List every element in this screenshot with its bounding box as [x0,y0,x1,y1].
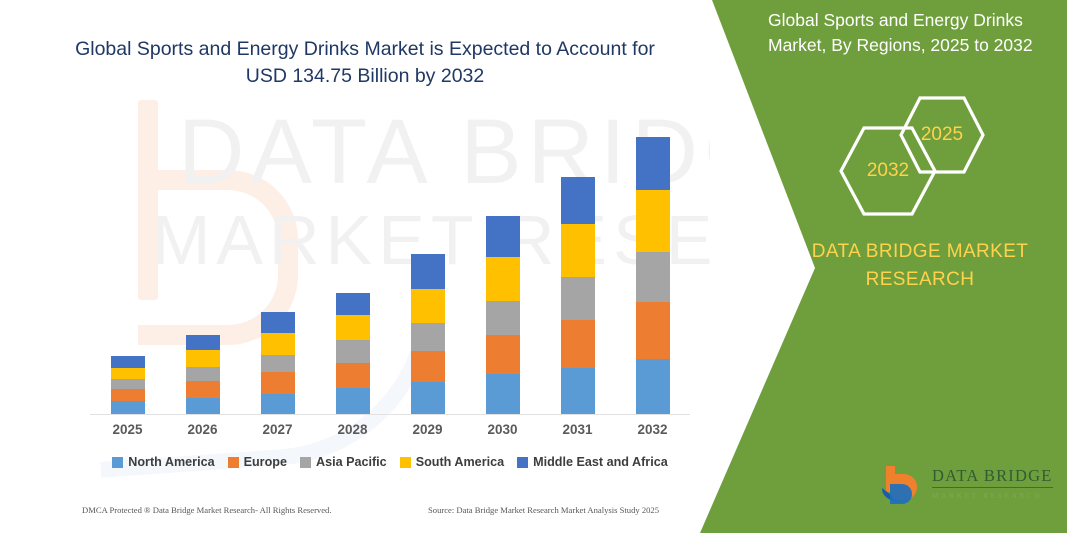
bar-segment [411,254,445,289]
bar-segment [336,388,370,414]
legend-item[interactable]: Asia Pacific [300,455,387,469]
bar-segment [486,257,520,301]
bar-segment [636,137,670,190]
bar-2031 [561,177,595,414]
bar-2028 [336,293,370,414]
bar-segment [336,293,370,315]
bar-segment [186,398,220,414]
bar-segment [186,367,220,381]
bar-segment [561,320,595,368]
bar-segment [261,372,295,394]
x-axis-label: 2028 [323,422,383,437]
legend-label: Asia Pacific [316,455,387,469]
footer-copyright: DMCA Protected ® Data Bridge Market Rese… [82,505,332,515]
bar-segment [561,277,595,320]
x-axis-label: 2025 [98,422,158,437]
bar-segment [261,355,295,372]
legend-label: North America [128,455,214,469]
bar-segment [561,224,595,277]
panel-brand-line-2: RESEARCH [780,266,1060,294]
bar-segment [111,389,145,401]
hexagon-start-year-label: 2032 [867,160,909,182]
bar-segment [486,374,520,414]
x-axis-label: 2026 [173,422,233,437]
bar-segment [486,216,520,257]
bar-segment [636,302,670,359]
panel-brand: DATA BRIDGE MARKET RESEARCH [780,238,1060,294]
logo-tagline: MARKET RESEARCH [932,491,1053,500]
bar-segment [336,340,370,363]
bar-segment [486,301,520,335]
bar-segment [561,368,595,414]
panel-title: Global Sports and Energy Drinks Market, … [768,8,1058,58]
bar-segment [636,252,670,302]
bar-segment [486,335,520,374]
legend-label: Europe [244,455,287,469]
x-axis-label: 2032 [623,422,683,437]
legend-label: South America [416,455,504,469]
legend-swatch-icon [228,457,239,468]
x-axis-label: 2030 [473,422,533,437]
bar-segment [336,363,370,388]
data-bridge-b-icon [880,462,926,508]
bar-segment [111,379,145,389]
bar-segment [186,335,220,350]
chart-legend: North AmericaEuropeAsia PacificSouth Ame… [90,455,690,469]
hexagon-end-year-label: 2025 [921,124,963,146]
infographic-page: DATA BRIDGE MARKET RESEARCH Global Sport… [0,0,1067,533]
bar-segment [336,315,370,340]
legend-swatch-icon [400,457,411,468]
bar-2027 [261,312,295,414]
bar-segment [636,359,670,414]
stacked-bar-chart [90,110,690,415]
bar-segment [561,177,595,224]
bar-segment [186,381,220,398]
bar-segment [261,312,295,333]
legend-swatch-icon [517,457,528,468]
bar-2030 [486,216,520,414]
footer-source: Source: Data Bridge Market Research Mark… [428,505,659,515]
legend-item[interactable]: South America [400,455,504,469]
bar-segment [636,190,670,252]
bar-segment [411,323,445,351]
bar-segment [411,382,445,414]
hexagon-group: 2025 2032 [820,95,1020,215]
panel-brand-line-1: DATA BRIDGE MARKET [780,238,1060,266]
data-bridge-logo: DATA BRIDGE MARKET RESEARCH [880,460,1055,510]
bar-segment [111,368,145,379]
legend-item[interactable]: North America [112,455,214,469]
bar-segment [411,289,445,323]
bar-segment [111,401,145,414]
bar-2032 [636,137,670,414]
bar-segment [186,350,220,367]
logo-name: DATA BRIDGE [932,466,1053,488]
legend-swatch-icon [300,457,311,468]
footer: DMCA Protected ® Data Bridge Market Rese… [0,505,700,527]
legend-item[interactable]: Europe [228,455,287,469]
x-axis-label: 2029 [398,422,458,437]
logo-text: DATA BRIDGE MARKET RESEARCH [932,466,1053,500]
bar-2026 [186,335,220,414]
legend-label: Middle East and Africa [533,455,668,469]
bar-segment [111,356,145,368]
bar-segment [261,333,295,355]
x-axis-labels: 20252026202720282029203020312032 [90,422,690,437]
bar-segment [261,394,295,414]
x-axis-line [90,414,690,415]
x-axis-label: 2027 [248,422,308,437]
legend-swatch-icon [112,457,123,468]
bar-2025 [111,356,145,414]
bar-segment [411,351,445,382]
bar-group [90,110,690,414]
x-axis-label: 2031 [548,422,608,437]
page-title: Global Sports and Energy Drinks Market i… [55,36,675,90]
bar-2029 [411,254,445,414]
legend-item[interactable]: Middle East and Africa [517,455,668,469]
